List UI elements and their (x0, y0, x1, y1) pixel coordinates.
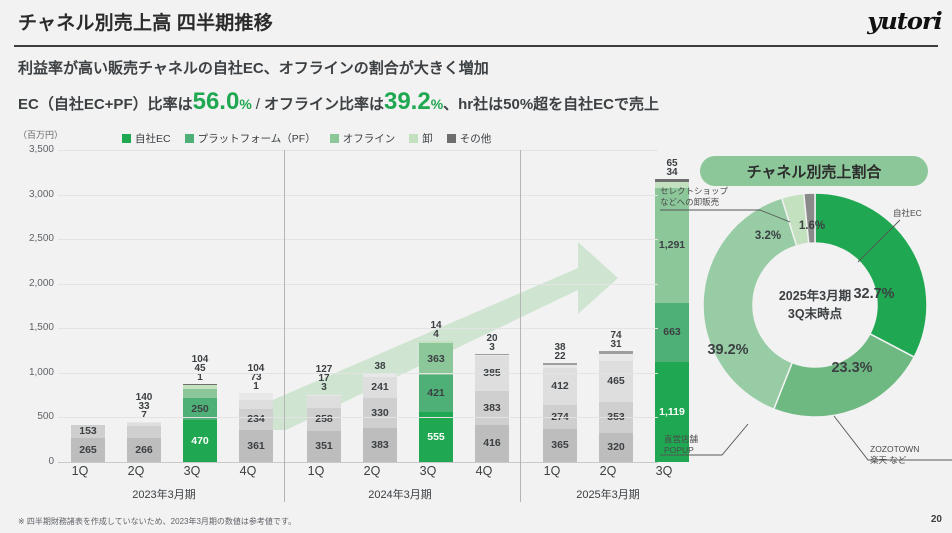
bar-segment: 421 (419, 375, 453, 413)
bar-value-label: 555 (427, 432, 445, 443)
bar-segment: 330 (363, 398, 397, 427)
offline-ratio-percent: % (431, 96, 443, 112)
bar-value-label: 383 (483, 403, 501, 414)
bar-column: 234361104731 (239, 393, 273, 462)
bar-segment: 266 (127, 438, 161, 462)
bar-value-label-outside: 7 (114, 411, 174, 421)
bar-segment: 363 (419, 343, 453, 375)
bar-segment: 383 (475, 391, 509, 425)
bar-value-label: 265 (79, 445, 97, 456)
legend-swatch-icon (447, 134, 456, 143)
donut-percent-label: 39.2% (707, 342, 748, 358)
bar-segment: 361 (239, 430, 273, 462)
x-axis-tick-5: 2Q (342, 464, 402, 478)
bar-value-label-outside: 3 (294, 383, 354, 393)
donut-title-pill: チャネル別売上割合 (700, 156, 928, 186)
legend-label: プラットフォーム（PF） (198, 131, 316, 146)
page-title: チャネル別売上高 四半期推移 (18, 8, 273, 35)
donut-center-line-2: 3Q末時点 (788, 305, 842, 323)
x-axis-tick-0: 1Q (50, 464, 110, 478)
x-axis-tick-6: 3Q (398, 464, 458, 478)
donut-chart: 2025年3月期 3Q末時点 32.7%23.3%39.2%3.2%1.6% (700, 190, 930, 420)
legend-swatch-icon (185, 134, 194, 143)
bar-segment (183, 389, 217, 398)
bar-segment: 320 (599, 433, 633, 462)
bar-value-label: 250 (191, 404, 209, 415)
legend-item-4: その他 (447, 131, 492, 146)
bar-value-label-outside: 3 (462, 343, 522, 353)
yutori-logo: yutori (867, 8, 941, 35)
bar-column: 258351127173 (307, 395, 341, 462)
x-axis-tick-3: 4Q (218, 464, 278, 478)
y-axis-tick-label: 2,500 (0, 233, 54, 244)
bar-segment: 465 (599, 361, 633, 402)
group-separator (520, 150, 521, 502)
legend-item-0: 自社EC (122, 131, 171, 146)
ec-ratio-percent: % (239, 96, 251, 112)
bar-segment: 351 (307, 431, 341, 462)
donut-percent-label: 1.6% (799, 220, 825, 232)
legend-label: 自社EC (135, 131, 171, 146)
chart-legend: 自社ECプラットフォーム（PF）オフライン卸その他 (122, 131, 491, 146)
bar-segment: 470 (183, 420, 217, 462)
bar-column: 363421555144 (419, 341, 453, 462)
bar-value-label: 412 (551, 381, 569, 392)
bar-value-label: 363 (427, 354, 445, 365)
bar-value-label: 241 (371, 382, 389, 393)
bar-segment: 416 (475, 425, 509, 462)
bar-value-label: 153 (79, 426, 97, 437)
bar-segment: 234 (239, 409, 273, 430)
x-axis-tick-9: 2Q (578, 464, 638, 478)
gridline (58, 462, 658, 463)
bar-value-label: 320 (607, 442, 625, 453)
x-axis-group-label: 2023年3月期 (79, 486, 249, 502)
gridline (58, 239, 658, 240)
bar-segment (307, 396, 341, 407)
x-axis-tick-1: 2Q (106, 464, 166, 478)
gridline (58, 284, 658, 285)
bar-value-label: 470 (191, 436, 209, 447)
bar-value-label: 1,119 (659, 407, 685, 418)
legend-item-1: プラットフォーム（PF） (185, 131, 316, 146)
header-divider (14, 45, 938, 47)
axis-unit-label: （百万円） (18, 128, 63, 141)
bar-value-label: 258 (315, 414, 333, 425)
offline-ratio-value: 39.2 (384, 88, 431, 116)
x-axis-tick-7: 4Q (454, 464, 514, 478)
ec-ratio-value: 56.0 (193, 88, 240, 116)
x-axis-tick-4: 1Q (286, 464, 346, 478)
bar-value-label: 383 (371, 440, 389, 451)
x-axis-group-label: 2024年3月期 (315, 486, 485, 502)
subtitle-separator: / (256, 96, 260, 113)
donut-percent-label: 23.3% (831, 360, 872, 376)
bar-segment: 663 (655, 303, 689, 362)
x-axis-tick-8: 1Q (522, 464, 582, 478)
y-axis-tick-label: 2,000 (0, 278, 54, 289)
subtitle-line-2: EC（自社EC+PF）比率は 56.0 % / オフライン比率は 39.2 % … (18, 88, 659, 116)
bar-chart-plot: 1532652661403372504701044512343611047312… (58, 150, 658, 462)
x-axis-group-label: 2025年3月期 (523, 486, 693, 502)
legend-swatch-icon (330, 134, 339, 143)
y-axis-tick-label: 3,500 (0, 144, 54, 155)
slide-root: チャネル別売上高 四半期推移 yutori 利益率が高い販売チャネルの自社EC、… (0, 0, 952, 533)
bar-value-label-outside: 38 (350, 362, 410, 372)
bar-segment (127, 426, 161, 438)
legend-swatch-icon (122, 134, 131, 143)
gridline (58, 150, 658, 151)
y-axis-tick-label: 1,500 (0, 322, 54, 333)
bar-value-label: 266 (135, 445, 153, 456)
legend-item-3: 卸 (409, 131, 433, 146)
subtitle-offline-prefix: オフライン比率は (264, 93, 384, 114)
y-axis-tick-label: 1,000 (0, 367, 54, 378)
bar-value-label-outside: 22 (530, 352, 590, 362)
bar-column: 153265 (71, 425, 105, 462)
gridline (58, 328, 658, 329)
callout-wholesale: セレクトショップ などへの卸販売 (660, 186, 760, 207)
y-axis-tick-label: 3,000 (0, 189, 54, 200)
bar-value-label-outside: 1 (170, 373, 230, 383)
bar-value-label-outside: 1 (226, 382, 286, 392)
page-number: 20 (931, 514, 942, 525)
bar-value-label: 361 (247, 441, 265, 452)
bar-value-label-outside: 31 (586, 340, 646, 350)
y-axis-tick-label: 500 (0, 411, 54, 422)
footnote: ※ 四半期財務諸表を作成していないため、2023年3月期の数値は参考値です。 (18, 516, 296, 527)
legend-swatch-icon (409, 134, 418, 143)
bar-segment (239, 400, 273, 409)
callout-direct-store: 直営店舗 POPUP (664, 434, 734, 455)
bar-column: 266140337 (127, 422, 161, 462)
legend-label: 卸 (422, 131, 433, 146)
bar-value-label-outside: 34 (642, 168, 702, 178)
legend-item-2: オフライン (330, 131, 396, 146)
subtitle-ec-prefix: EC（自社EC+PF）比率は (18, 93, 193, 114)
bar-column: 385383416203 (475, 354, 509, 462)
bar-value-label: 365 (551, 440, 569, 451)
donut-percent-label: 3.2% (755, 230, 781, 242)
legend-label: オフライン (343, 131, 396, 146)
bar-segment: 365 (543, 429, 577, 462)
x-axis-tick-2: 3Q (162, 464, 222, 478)
bar-segment: 153 (71, 425, 105, 439)
bar-segment: 258 (307, 408, 341, 431)
bar-value-label: 416 (483, 438, 501, 449)
bar-segment: 265 (71, 438, 105, 462)
x-axis-tick-10: 3Q (634, 464, 694, 478)
bar-column: 250470104451 (183, 384, 217, 462)
bar-column: 4653533207431 (599, 351, 633, 462)
bar-segment (599, 354, 633, 361)
subtitle-line-1: 利益率が高い販売チャネルの自社EC、オフラインの割合が大きく増加 (18, 57, 489, 78)
donut-center-line-1: 2025年3月期 (779, 287, 851, 305)
bar-segment: 555 (419, 412, 453, 461)
callout-own-ec: 自社EC (893, 208, 949, 219)
gridline (58, 195, 658, 196)
bar-value-label: 234 (247, 414, 265, 425)
bar-value-label: 663 (663, 327, 681, 338)
bar-column: 4122743653822 (543, 363, 577, 462)
donut-percent-label: 32.7% (853, 286, 894, 302)
group-separator (284, 150, 285, 502)
legend-label: その他 (460, 131, 492, 146)
bar-value-label-outside: 4 (406, 330, 466, 340)
bar-column: 1,2916631,1196534 (655, 179, 689, 462)
bar-value-label: 351 (315, 441, 333, 452)
y-axis-tick-label: 0 (0, 456, 54, 467)
x-axis: 1Q2Q3Q4Q1Q2Q3Q4Q1Q2Q3Q2023年3月期2024年3月期20… (58, 464, 658, 510)
callout-zozotown: ZOZOTOWN 楽天 など (870, 444, 948, 465)
bar-value-label: 1,291 (659, 240, 685, 251)
bar-segment: 383 (363, 428, 397, 462)
subtitle-suffix: 、hr社は50%超を自社ECで売上 (443, 93, 659, 114)
gridline (58, 373, 658, 374)
bar-value-label: 465 (607, 376, 625, 387)
bar-segment: 241 (363, 377, 397, 398)
bar-value-label: 421 (427, 388, 445, 399)
gridline (58, 417, 658, 418)
